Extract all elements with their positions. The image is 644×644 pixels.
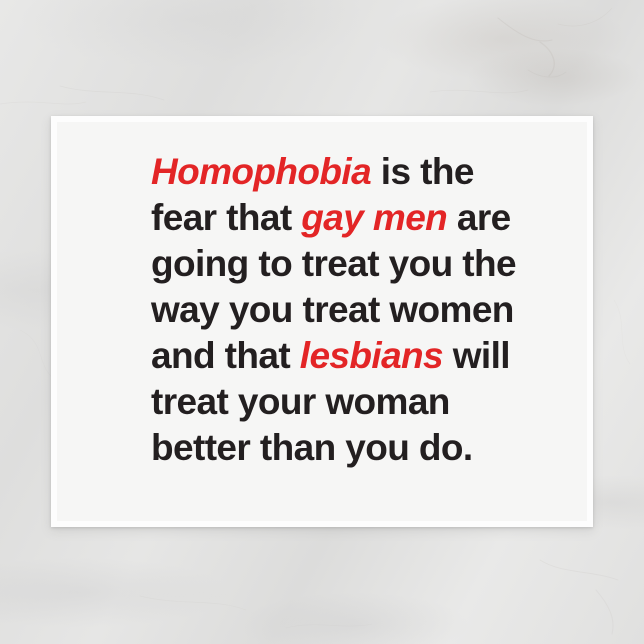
quote-line-1: Homophobia is the [151, 149, 551, 195]
quote-line-6: treat your woman [151, 379, 551, 425]
accent-word-gay-men: gay men [301, 197, 447, 238]
quote-text: Homophobia is the fear that gay men are … [151, 149, 551, 471]
postcard-face: Homophobia is the fear that gay men are … [57, 122, 587, 521]
quote-line-2-lead: fear that [151, 197, 301, 238]
accent-word-homophobia: Homophobia [151, 151, 371, 192]
quote-line-5-lead: and that [151, 335, 300, 376]
quote-line-2-rest: are [447, 197, 510, 238]
quote-line-2: fear that gay men are [151, 195, 551, 241]
quote-line-1-rest: is the [371, 151, 474, 192]
quote-line-3: going to treat you the [151, 241, 551, 287]
postcard: Homophobia is the fear that gay men are … [51, 116, 593, 527]
quote-line-5-rest: will [443, 335, 510, 376]
quote-line-5: and that lesbians will [151, 333, 551, 379]
marble-background: Homophobia is the fear that gay men are … [0, 0, 644, 644]
accent-word-lesbians: lesbians [300, 335, 443, 376]
quote-line-4: way you treat women [151, 287, 551, 333]
quote-line-7: better than you do. [151, 425, 551, 471]
